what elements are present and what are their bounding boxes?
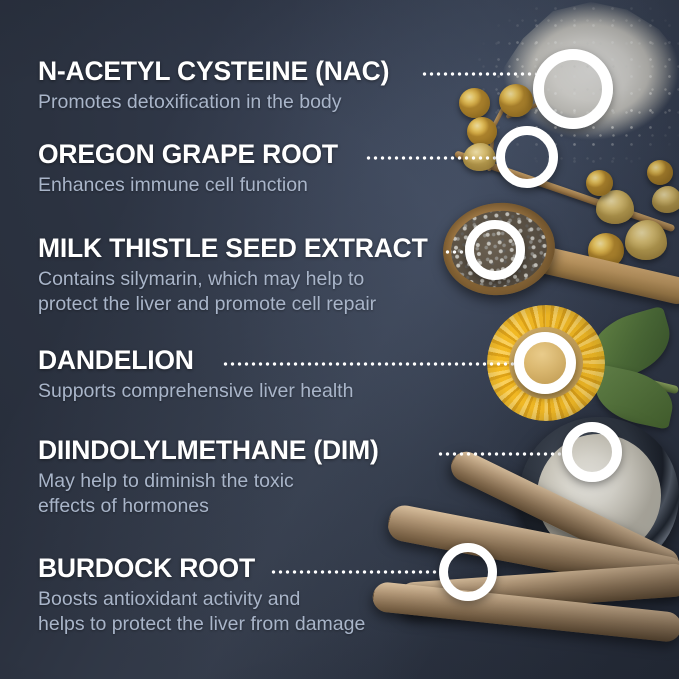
nac-powder-callout-ring [533, 49, 613, 129]
dandelion-flower-callout-ring [514, 332, 576, 394]
leader-line-dim [437, 452, 564, 456]
ingredient-entry-dandelion: DANDELION Supports comprehensive liver h… [38, 347, 353, 404]
burdock-root-callout-ring [439, 543, 497, 601]
milk-thistle-seed-callout-ring [465, 220, 525, 280]
dim-powder-callout-ring [562, 422, 622, 482]
ingredient-name-oregon-grape-root: OREGON GRAPE ROOT [38, 141, 338, 168]
leader-line-nac [421, 72, 536, 76]
ingredient-infographic-poster: N-ACETYL CYSTEINE (NAC) Promotes detoxif… [0, 0, 679, 679]
ingredient-benefit-burdock-root: Boosts antioxidant activity and helps to… [38, 587, 365, 638]
oregon-grape-berry-callout-ring [496, 126, 558, 188]
ingredient-benefit-dim: May help to diminish the toxic effects o… [38, 469, 379, 520]
ingredient-name-nac: N-ACETYL CYSTEINE (NAC) [38, 58, 389, 85]
ingredient-name-dandelion: DANDELION [38, 347, 353, 374]
ingredient-entry-oregon-grape-root: OREGON GRAPE ROOT Enhances immune cell f… [38, 141, 338, 198]
ingredient-name-dim: DIINDOLYLMETHANE (DIM) [38, 437, 379, 464]
leader-line-milk-thistle [444, 250, 466, 254]
ingredient-entry-burdock-root: BURDOCK ROOT Boosts antioxidant activity… [38, 555, 365, 638]
ingredient-entry-nac: N-ACETYL CYSTEINE (NAC) Promotes detoxif… [38, 58, 389, 115]
ingredient-entry-dim: DIINDOLYLMETHANE (DIM) May help to dimin… [38, 437, 379, 520]
ingredient-benefit-dandelion: Supports comprehensive liver health [38, 379, 353, 404]
ingredient-benefit-milk-thistle-seed-extract: Contains silymarin, which may help to pr… [38, 267, 428, 318]
ingredient-entry-milk-thistle-seed-extract: MILK THISTLE SEED EXTRACT Contains silym… [38, 235, 428, 318]
ingredient-name-burdock-root: BURDOCK ROOT [38, 555, 365, 582]
ingredient-name-milk-thistle-seed-extract: MILK THISTLE SEED EXTRACT [38, 235, 428, 262]
ingredient-benefit-oregon-grape-root: Enhances immune cell function [38, 173, 338, 198]
ingredient-benefit-nac: Promotes detoxification in the body [38, 90, 389, 115]
leader-line-oregon-grape [365, 156, 498, 160]
